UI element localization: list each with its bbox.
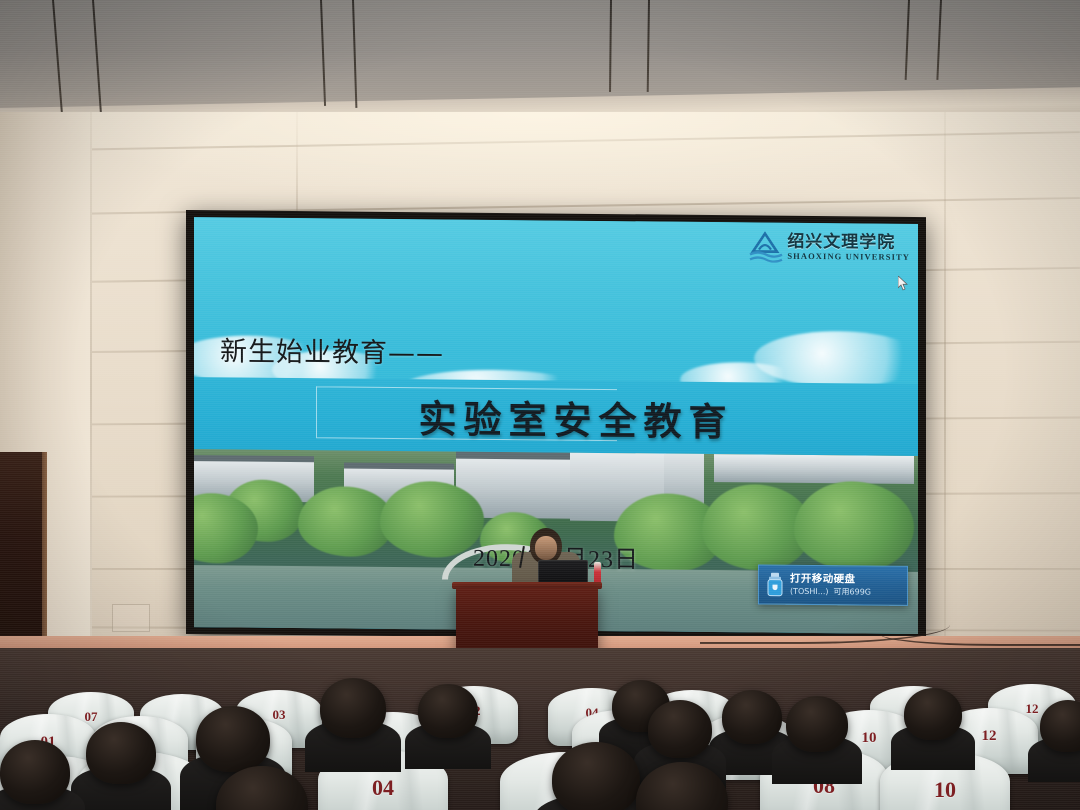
campus-building-5 <box>714 454 914 484</box>
audience-head-4 <box>418 684 478 738</box>
water-bottle <box>594 562 601 584</box>
slide-subtitle: 新生始业教育—— <box>220 329 444 370</box>
wall-access-panel <box>112 604 150 632</box>
slide-title-band: 实验室安全教育 <box>194 377 918 456</box>
audience-head-9 <box>904 688 962 740</box>
bridge-arch-logo-icon <box>749 230 783 262</box>
chair-number: 10 <box>880 777 1010 803</box>
audience-head-11 <box>552 742 640 810</box>
usb-toast-title: 打开移动硬盘 <box>790 573 871 587</box>
speaker-face <box>535 536 557 560</box>
logo-name-cn: 绍兴文理学院 <box>787 233 910 251</box>
campus-roof-3 <box>456 452 576 460</box>
university-logo-text: 绍兴文理学院 SHAOXING UNIVERSITY <box>787 233 910 262</box>
wall-vertical-seam-left <box>90 112 92 672</box>
slide-main-title: 实验室安全教育 <box>194 377 918 456</box>
university-logo: 绍兴文理学院 SHAOXING UNIVERSITY <box>749 226 910 268</box>
usb-drive-icon <box>767 573 783 597</box>
audience-head-14 <box>0 740 70 804</box>
wall-vertical-seam-right <box>944 112 946 672</box>
lecture-hall-photo: 绍兴文理学院 SHAOXING UNIVERSITY 新生始业教育—— 实验室安… <box>0 0 1080 810</box>
usb-notification-toast[interactable]: 打开移动硬盘 (TOSHI...) 可用699G <box>758 564 908 605</box>
usb-toast-detail: (TOSHI...) 可用699G <box>790 586 871 597</box>
campus-roof-2 <box>344 463 454 470</box>
usb-device-name: (TOSHI...) <box>790 586 829 596</box>
logo-name-en: SHAOXING UNIVERSITY <box>787 252 910 262</box>
side-doorway[interactable] <box>0 452 44 666</box>
doorway-frame <box>42 452 47 666</box>
campus-roof-1 <box>194 455 314 462</box>
mouse-pointer-icon <box>898 276 908 291</box>
audience-head-1 <box>86 722 156 784</box>
usb-capacity: 可用699G <box>834 587 871 597</box>
audience-head-7 <box>722 690 782 744</box>
audience-head-2 <box>196 706 270 772</box>
chair-number: 04 <box>318 775 448 801</box>
audience-head-3 <box>320 678 386 738</box>
audience-head-6 <box>648 700 712 758</box>
audience-head-8 <box>786 696 848 752</box>
usb-toast-text: 打开移动硬盘 (TOSHI...) 可用699G <box>790 573 871 597</box>
